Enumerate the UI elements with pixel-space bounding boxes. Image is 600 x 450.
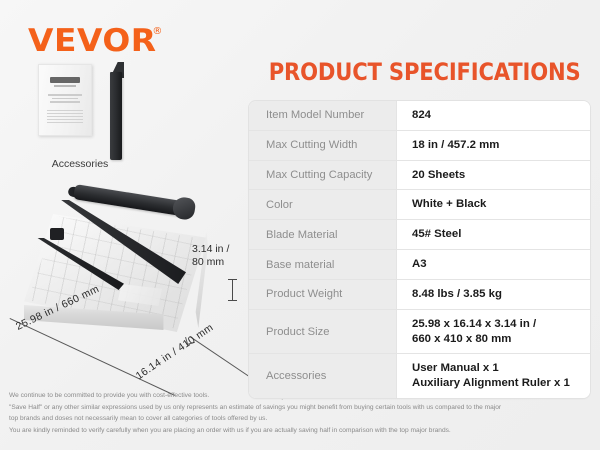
ruler-body [110,72,122,160]
spec-label: Item Model Number [249,101,397,130]
table-row: Product Weight 8.48 lbs / 3.85 kg [249,280,590,310]
manual-subtitle-line [54,85,76,87]
table-row: Product Size 25.98 x 16.14 x 3.14 in / 6… [249,310,590,355]
manual-text-line [52,98,78,100]
spec-value: 18 in / 457.2 mm [397,131,590,160]
dimension-height-line1: 3.14 in / [192,243,229,256]
brand-wordmark: VEVOR [28,26,157,57]
table-row: Base material A3 [249,250,590,280]
trimmer-blade-pivot [50,228,64,240]
spec-label: Product Size [249,310,397,354]
spec-value-line1: 25.98 x 16.14 x 3.14 in / [412,317,582,332]
spec-label: Product Weight [249,280,397,309]
spec-value: 8.48 lbs / 3.85 kg [397,280,590,309]
dimension-height-line2: 80 mm [192,256,229,269]
handle-knob [171,196,196,221]
user-manual-image [38,64,92,136]
footer-line-1: We continue to be committed to provide y… [9,391,593,402]
spec-label: Base material [249,250,397,279]
table-row: Color White + Black [249,190,590,220]
spec-value-line1: User Manual x 1 [412,361,582,376]
spec-value-line2: Auxiliary Alignment Ruler x 1 [412,376,582,391]
spec-label: Color [249,190,397,219]
table-row: Blade Material 45# Steel [249,220,590,250]
spec-label: Max Cutting Capacity [249,161,397,190]
manual-logo-icon [50,77,80,83]
spec-value: 25.98 x 16.14 x 3.14 in / 660 x 410 x 80… [397,310,590,354]
footer-line-2: "Save Half" or any other similar express… [9,403,593,414]
footer-disclaimer: We continue to be committed to provide y… [9,391,593,438]
manual-text-line [48,94,82,96]
accessories-illustration: Accessories [30,62,180,172]
spec-value-line2: 660 x 410 x 80 mm [412,332,582,347]
vevor-logo: VEVOR ® [28,26,162,57]
specification-table: Item Model Number 824 Max Cutting Width … [249,101,590,398]
spec-label: Max Cutting Width [249,131,397,160]
dimension-height-label: 3.14 in / 80 mm [192,243,229,269]
spec-value: 20 Sheets [397,161,590,190]
alignment-ruler-image [108,62,124,160]
spec-value: White + Black [397,190,590,219]
page-title: PRODUCT SPECIFICATIONS [269,58,573,86]
handle-grip [73,184,186,216]
spec-label: Blade Material [249,220,397,249]
table-row: Max Cutting Capacity 20 Sheets [249,161,590,191]
table-row: Item Model Number 824 [249,101,590,131]
spec-value: 824 [397,101,590,130]
table-row: Max Cutting Width 18 in / 457.2 mm [249,131,590,161]
indicator-stem [232,279,233,301]
accessories-caption: Accessories [30,158,130,170]
manual-text-line [50,101,80,103]
product-spec-page: VEVOR ® PRODUCT SPECIFICATIONS Accessori… [0,0,600,450]
spec-value: A3 [397,250,590,279]
footer-line-4: You are kindly reminded to verify carefu… [9,426,593,437]
footer-line-3: top brands and doses not necessarily mea… [9,414,593,425]
dimension-height-indicator [228,279,237,301]
manual-text-block [47,110,83,124]
spec-value: 45# Steel [397,220,590,249]
paper-trimmer-image [14,176,236,372]
indicator-cap-bottom [228,300,237,301]
